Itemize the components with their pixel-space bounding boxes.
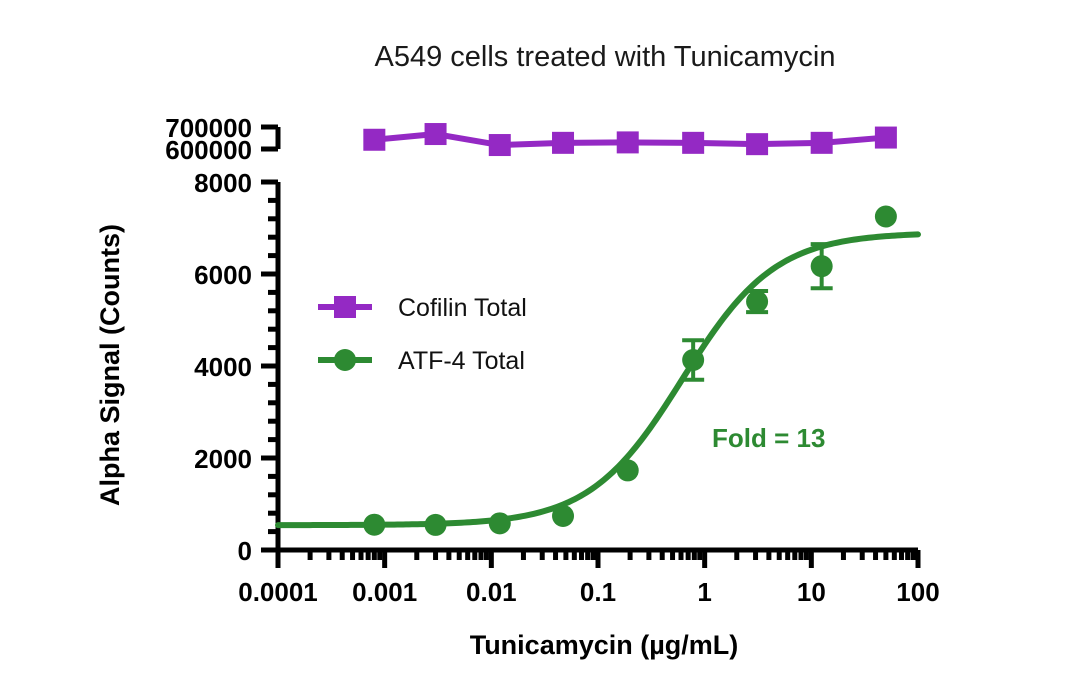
data-point-square (552, 132, 574, 154)
series-atf-4-total (278, 206, 918, 536)
chart-figure: A549 cells treated with Tunicamycin Tuni… (0, 0, 1080, 700)
data-point-square (425, 123, 447, 145)
data-point-circle (617, 459, 639, 481)
legend-layer: Cofilin TotalATF-4 Total (318, 294, 527, 375)
x-tick-label: 0.001 (352, 577, 417, 607)
data-point-circle (363, 514, 385, 536)
data-point-square (617, 131, 639, 153)
data-point-square (811, 132, 833, 154)
x-tick-label: 1 (697, 577, 711, 607)
y-tick-label: 4000 (194, 352, 252, 382)
x-tick-label: 10 (797, 577, 826, 607)
legend-label: Cofilin Total (398, 294, 527, 322)
legend-label: ATF-4 Total (398, 347, 525, 375)
y-tick-label: 0 (238, 536, 252, 566)
data-point-circle (875, 206, 897, 228)
x-axis-title: Tunicamycin (µg/mL) (470, 630, 739, 660)
data-point-square (489, 134, 511, 156)
x-tick-label: 0.0001 (238, 577, 318, 607)
data-point-circle (746, 291, 768, 313)
legend-item[interactable]: ATF-4 Total (318, 347, 525, 375)
y-tick-label-upper: 700000 (165, 113, 252, 143)
y-tick-label: 6000 (194, 260, 252, 290)
dose-response-chart: A549 cells treated with Tunicamycin Tuni… (0, 0, 1080, 700)
fold-annotation: Fold = 13 (712, 423, 825, 453)
legend-marker-square (334, 296, 356, 318)
y-tick-label: 2000 (194, 444, 252, 474)
legend-item[interactable]: Cofilin Total (318, 294, 527, 322)
x-tick-label: 0.1 (580, 577, 616, 607)
x-tick-label: 0.01 (466, 577, 517, 607)
chart-title: A549 cells treated with Tunicamycin (375, 41, 836, 73)
data-point-square (682, 132, 704, 154)
data-point-circle (811, 255, 833, 277)
data-point-square (746, 133, 768, 155)
data-point-circle (552, 505, 574, 527)
series-cofilin-total (363, 123, 897, 156)
data-point-square (363, 129, 385, 151)
axes-layer: 020004000600080006000007000000.00010.001… (165, 113, 939, 607)
y-axis-title: Alpha Signal (Counts) (95, 224, 125, 506)
data-point-circle (682, 349, 704, 371)
y-tick-label: 8000 (194, 168, 252, 198)
x-tick-label: 100 (896, 577, 939, 607)
annotations-layer: Fold = 13 (712, 423, 825, 453)
data-point-square (875, 127, 897, 149)
data-point-circle (425, 514, 447, 536)
data-point-circle (489, 512, 511, 534)
series-layer (278, 123, 918, 536)
legend-marker-circle (334, 349, 356, 371)
